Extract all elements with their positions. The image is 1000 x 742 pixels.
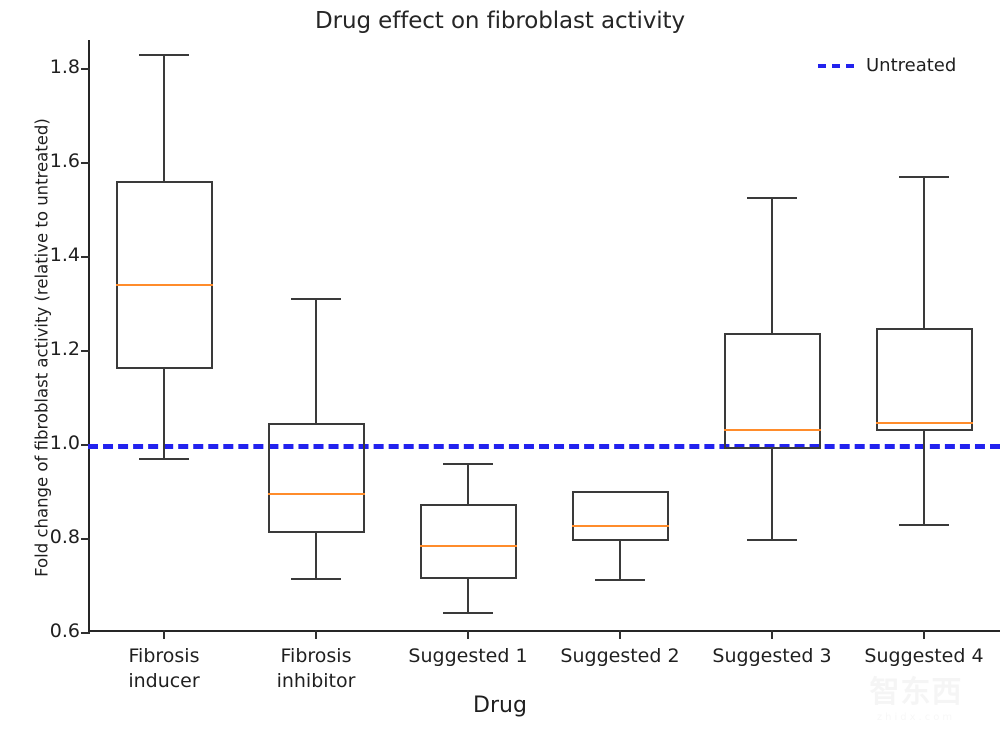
x-axis-label: Drug [0,693,1000,718]
box-suggested-2[interactable] [572,491,669,541]
x-tick-mark [163,630,165,639]
whisker-line [467,463,469,504]
x-tick-mark [619,630,621,639]
x-tick-label-line: Suggested 4 [829,644,1000,669]
chart-title: Drug effect on fibroblast activity [0,8,1000,34]
whisker-cap-upper [747,197,797,199]
whisker-cap-upper [291,298,341,300]
y-tick-label: 1.6 [50,150,80,172]
whisker-cap-upper [443,463,493,465]
x-tick-mark [771,630,773,639]
whisker-cap-lower [595,579,645,581]
y-tick-label: 1.8 [50,56,80,78]
whisker-line [619,541,621,579]
whisker-cap-lower [443,612,493,614]
whisker-line [771,197,773,332]
x-tick-mark [315,630,317,639]
boxplot-chart: Drug effect on fibroblast activity Fold … [0,0,1000,742]
y-axis-label: Fold change of fibroblast activity (rela… [33,48,52,648]
whisker-line [467,579,469,612]
whisker-line [315,533,317,578]
median-line-suggested-4 [876,422,973,424]
y-tick-label: 0.8 [50,526,80,548]
median-line-fibrosis-inhibitor [268,493,365,495]
y-tick-mark [81,256,90,258]
y-tick-mark [81,350,90,352]
box-suggested-3[interactable] [724,333,821,449]
whisker-line [923,176,925,328]
whisker-line [315,298,317,423]
whisker-cap-lower [139,458,189,460]
box-suggested-4[interactable] [876,328,973,431]
y-tick-mark [81,162,90,164]
whisker-cap-lower [899,524,949,526]
median-line-fibrosis-inducer [116,284,213,286]
y-axis-spine [88,40,90,632]
x-tick-mark [467,630,469,639]
x-tick-label-suggested-4: Suggested 4 [829,644,1000,669]
y-tick-mark [81,632,90,634]
x-tick-label-line: inhibitor [221,669,411,694]
y-tick-label: 0.6 [50,620,80,642]
y-tick-label: 1.4 [50,244,80,266]
median-line-suggested-3 [724,429,821,431]
whisker-line [771,449,773,540]
y-tick-label: 1.2 [50,338,80,360]
whisker-line [163,54,165,181]
whisker-cap-lower [291,578,341,580]
whisker-cap-upper [899,176,949,178]
median-line-suggested-2 [572,525,669,527]
whisker-cap-lower [747,539,797,541]
box-fibrosis-inducer[interactable] [116,181,213,369]
y-tick-label: 1.0 [50,432,80,454]
whisker-cap-upper [139,54,189,56]
box-suggested-1[interactable] [420,504,517,579]
x-tick-mark [923,630,925,639]
untreated-line-swatch-icon [818,64,854,68]
legend-label-untreated: Untreated [866,55,956,76]
legend: Untreated [818,55,956,76]
y-tick-mark [81,68,90,70]
y-tick-mark [81,538,90,540]
plot-area: 0.60.81.01.21.41.61.8 FibrosisinducerFib… [88,40,1000,632]
median-line-suggested-1 [420,545,517,547]
box-fibrosis-inhibitor[interactable] [268,423,365,533]
whisker-line [163,369,165,458]
untreated-reference-line [88,444,1000,449]
whisker-line [923,431,925,524]
x-axis-spine [88,630,1000,632]
